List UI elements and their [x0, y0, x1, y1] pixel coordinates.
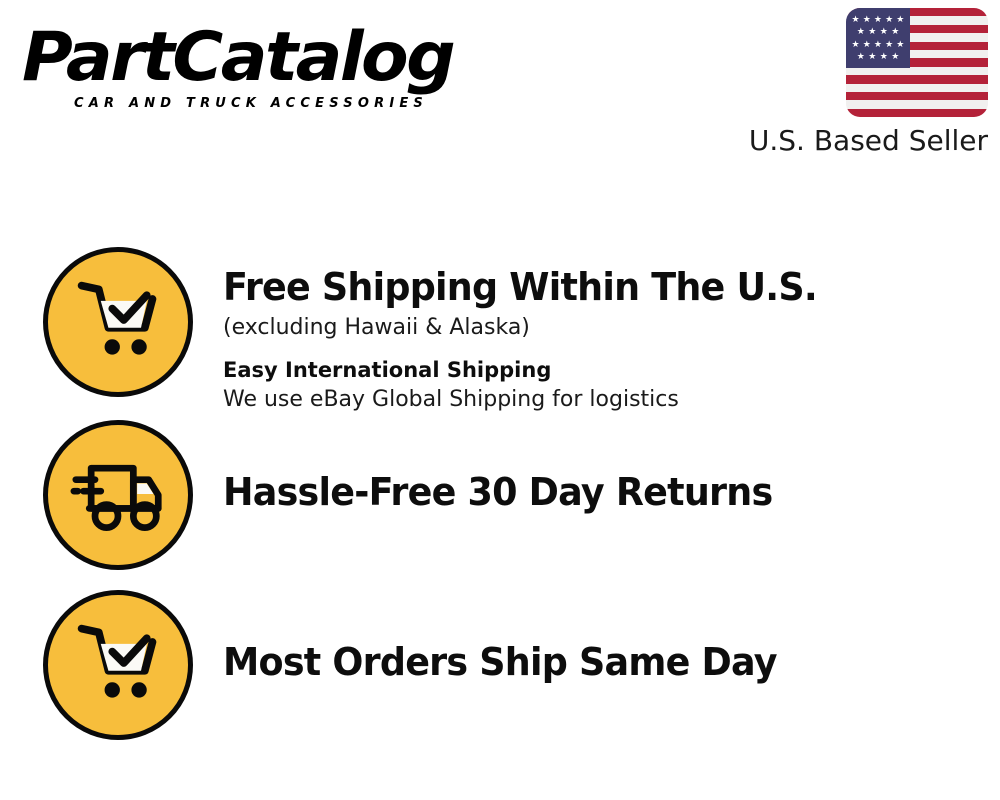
flag-star-row: ★ ★ ★ ★ [850, 51, 906, 64]
star-icon: ★ [868, 27, 876, 36]
star-icon: ★ [885, 15, 893, 24]
delivery-truck-icon [43, 420, 193, 570]
star-icon: ★ [874, 40, 882, 49]
seller-info-banner: PartCatalog CAR AND TRUCK ACCESSORIES [0, 0, 1000, 800]
star-icon: ★ [868, 52, 876, 61]
us-flag-icon: ★ ★ ★ ★ ★ ★ ★ ★ ★ ★ ★ ★ [846, 8, 988, 117]
flag-star-row: ★ ★ ★ ★ ★ [850, 13, 906, 26]
feature-title: Most Orders Ship Same Day [223, 640, 969, 684]
star-icon: ★ [891, 52, 899, 61]
feature-secondary-subtitle: We use eBay Global Shipping for logistic… [223, 386, 1000, 414]
star-icon: ★ [891, 27, 899, 36]
banner-header: PartCatalog CAR AND TRUCK ACCESSORIES [0, 0, 1000, 170]
shopping-cart-check-icon [43, 590, 193, 740]
us-based-seller-badge: ★ ★ ★ ★ ★ ★ ★ ★ ★ ★ ★ ★ [738, 8, 988, 158]
feature-text-block: Hassle-Free 30 Day Returns [223, 420, 1000, 514]
feature-subtitle: (excluding Hawaii & Alaska) [223, 314, 1000, 342]
star-icon: ★ [863, 40, 871, 49]
seller-label: U.S. Based Seller [738, 124, 988, 158]
star-icon: ★ [863, 15, 871, 24]
star-icon: ★ [896, 40, 904, 49]
feature-text-block: Most Orders Ship Same Day [223, 590, 1000, 684]
star-icon: ★ [896, 15, 904, 24]
feature-secondary-title: Easy International Shipping [223, 357, 1000, 384]
feature-title: Hassle-Free 30 Day Returns [223, 470, 969, 514]
star-icon: ★ [857, 52, 865, 61]
flag-canton: ★ ★ ★ ★ ★ ★ ★ ★ ★ ★ ★ ★ [846, 8, 910, 68]
feature-text-block: Free Shipping Within The U.S. (excluding… [223, 247, 1000, 414]
brand-tagline: CAR AND TRUCK ACCESSORIES [74, 96, 502, 111]
flag-star-row: ★ ★ ★ ★ [850, 26, 906, 39]
brand-wordmark: PartCatalog [22, 22, 512, 94]
star-icon: ★ [880, 52, 888, 61]
feature-title: Free Shipping Within The U.S. [223, 265, 969, 309]
star-icon: ★ [857, 27, 865, 36]
star-icon: ★ [874, 15, 882, 24]
feature-row: Free Shipping Within The U.S. (excluding… [0, 247, 1000, 414]
shopping-cart-check-icon [43, 247, 193, 397]
feature-row: Hassle-Free 30 Day Returns [0, 420, 1000, 570]
star-icon: ★ [852, 15, 860, 24]
feature-row: Most Orders Ship Same Day [0, 590, 1000, 740]
brand-logo: PartCatalog CAR AND TRUCK ACCESSORIES [22, 22, 502, 111]
star-icon: ★ [880, 27, 888, 36]
star-icon: ★ [885, 40, 893, 49]
flag-star-row: ★ ★ ★ ★ ★ [850, 38, 906, 51]
star-icon: ★ [852, 40, 860, 49]
